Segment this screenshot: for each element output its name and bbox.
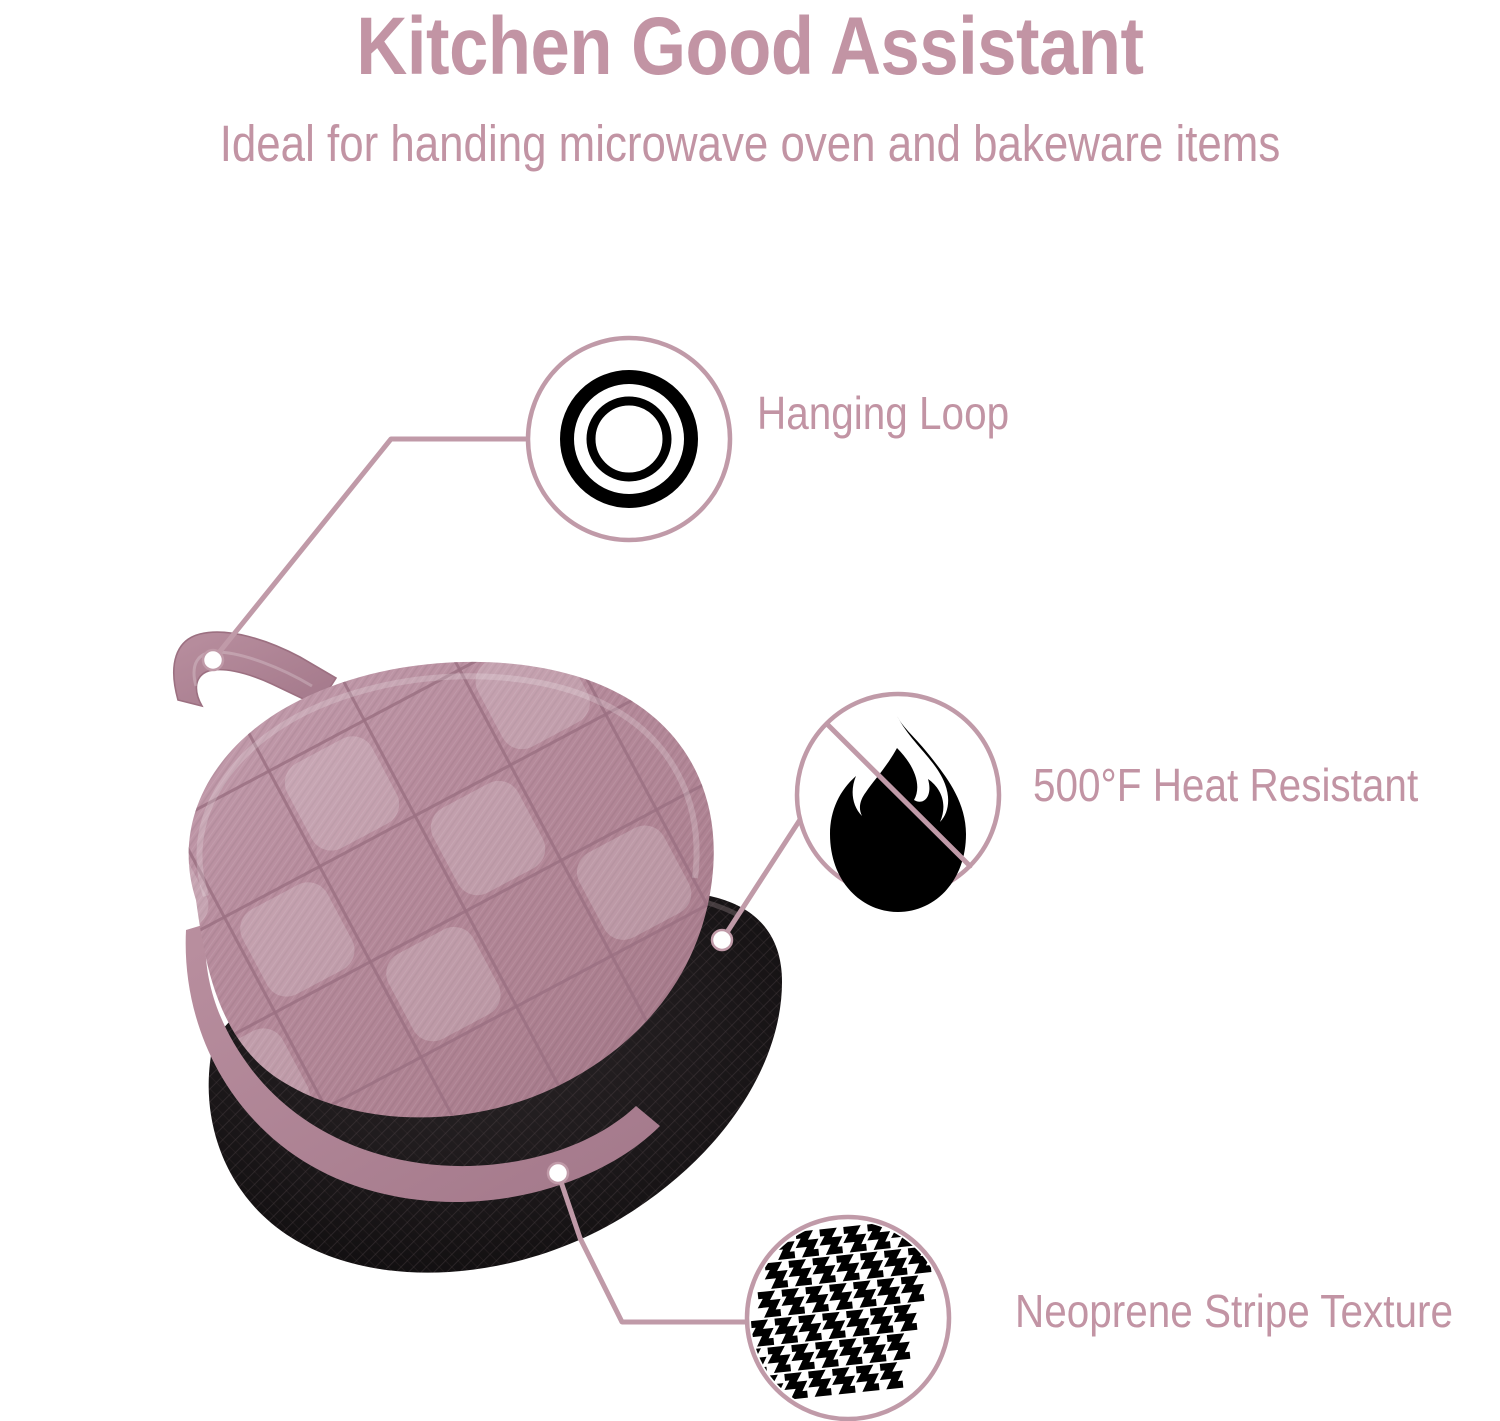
illustration-stage: [0, 0, 1500, 1421]
callout-label-neoprene-texture: Neoprene Stripe Texture: [1015, 1288, 1453, 1334]
callout-neoprene-texture[interactable]: [722, 1217, 952, 1419]
marker-dot-hanging-loop: [203, 650, 223, 670]
leader-line-hanging-loop: [213, 439, 528, 660]
callout-circle-hanging-loop: [528, 338, 730, 540]
product-infographic: Kitchen Good Assistant Ideal for handing…: [0, 0, 1500, 1421]
callout-heat-resistant[interactable]: [797, 694, 999, 912]
marker-dot-neoprene: [548, 1163, 568, 1183]
callout-hanging-loop[interactable]: [528, 338, 730, 540]
marker-dot-heat: [712, 930, 732, 950]
callout-label-heat-resistant: 500°F Heat Resistant: [1033, 762, 1418, 808]
callout-label-hanging-loop: Hanging Loop: [757, 390, 1009, 436]
